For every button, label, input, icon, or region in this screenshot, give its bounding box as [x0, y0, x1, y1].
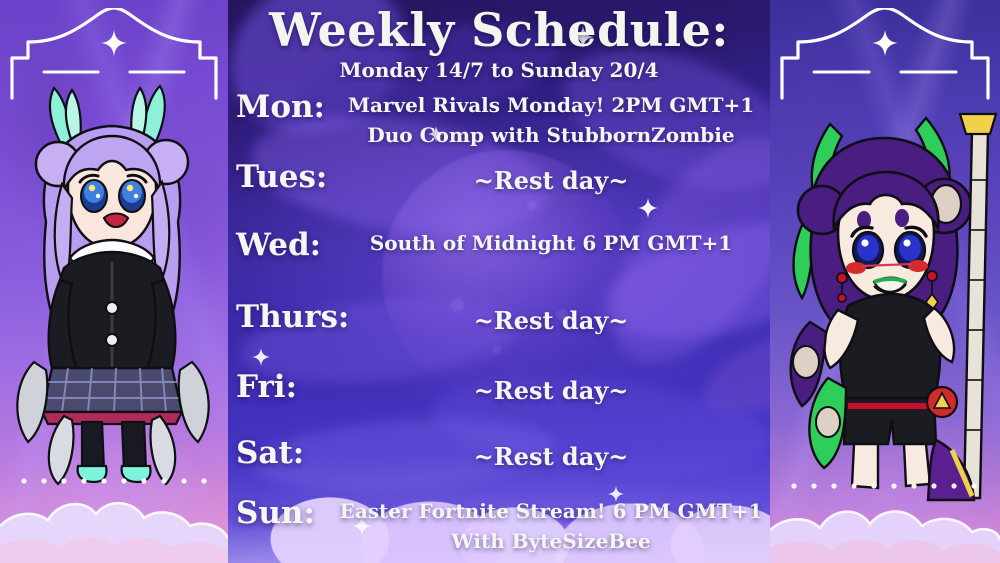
character-card-left [0, 0, 228, 563]
event-text-group: ~Rest day~ [336, 376, 766, 406]
page-title: Weekly Schedule: [228, 4, 770, 56]
page-subtitle: Monday 14/7 to Sunday 20/4 [228, 58, 770, 82]
sparkle-icon [872, 30, 898, 61]
event-line: Duo Comp with StubbornZombie [336, 120, 766, 150]
event-line: Marvel Rivals Monday! 2PM GMT+1 [336, 90, 766, 120]
event-line: With ByteSizeBee [336, 526, 766, 556]
weekly-schedule-graphic: Weekly Schedule: Monday 14/7 to Sunday 2… [0, 0, 1000, 563]
event-line: South of Midnight 6 PM GMT+1 [336, 228, 766, 258]
event-line: Easter Fortnite Stream! 6 PM GMT+1 [336, 496, 766, 526]
event-text-group: ~Rest day~ [336, 306, 766, 336]
character-illustration-right [776, 110, 998, 510]
day-label: Sat: [236, 436, 304, 470]
event-text-group: ~Rest day~ [336, 442, 766, 472]
day-label: Mon: [236, 90, 325, 124]
character-card-right [770, 0, 1000, 563]
event-line: ~Rest day~ [336, 306, 766, 336]
event-text-group: Marvel Rivals Monday! 2PM GMT+1Duo Comp … [336, 90, 766, 150]
event-text-group: Easter Fortnite Stream! 6 PM GMT+1With B… [336, 496, 766, 556]
day-label: Fri: [236, 370, 297, 404]
event-line: ~Rest day~ [336, 166, 766, 196]
character-illustration-left [6, 72, 222, 492]
day-label: Tues: [236, 160, 327, 194]
event-line: ~Rest day~ [336, 442, 766, 472]
sparkle-icon [101, 30, 127, 61]
schedule-list: Mon:Marvel Rivals Monday! 2PM GMT+1Duo C… [228, 88, 770, 563]
event-text-group: ~Rest day~ [336, 166, 766, 196]
day-label: Sun: [236, 496, 315, 530]
day-label: Wed: [236, 228, 321, 262]
event-line: ~Rest day~ [336, 376, 766, 406]
event-text-group: South of Midnight 6 PM GMT+1 [336, 228, 766, 258]
schedule-content: Weekly Schedule: Monday 14/7 to Sunday 2… [228, 0, 770, 563]
day-label: Thurs: [236, 300, 349, 334]
